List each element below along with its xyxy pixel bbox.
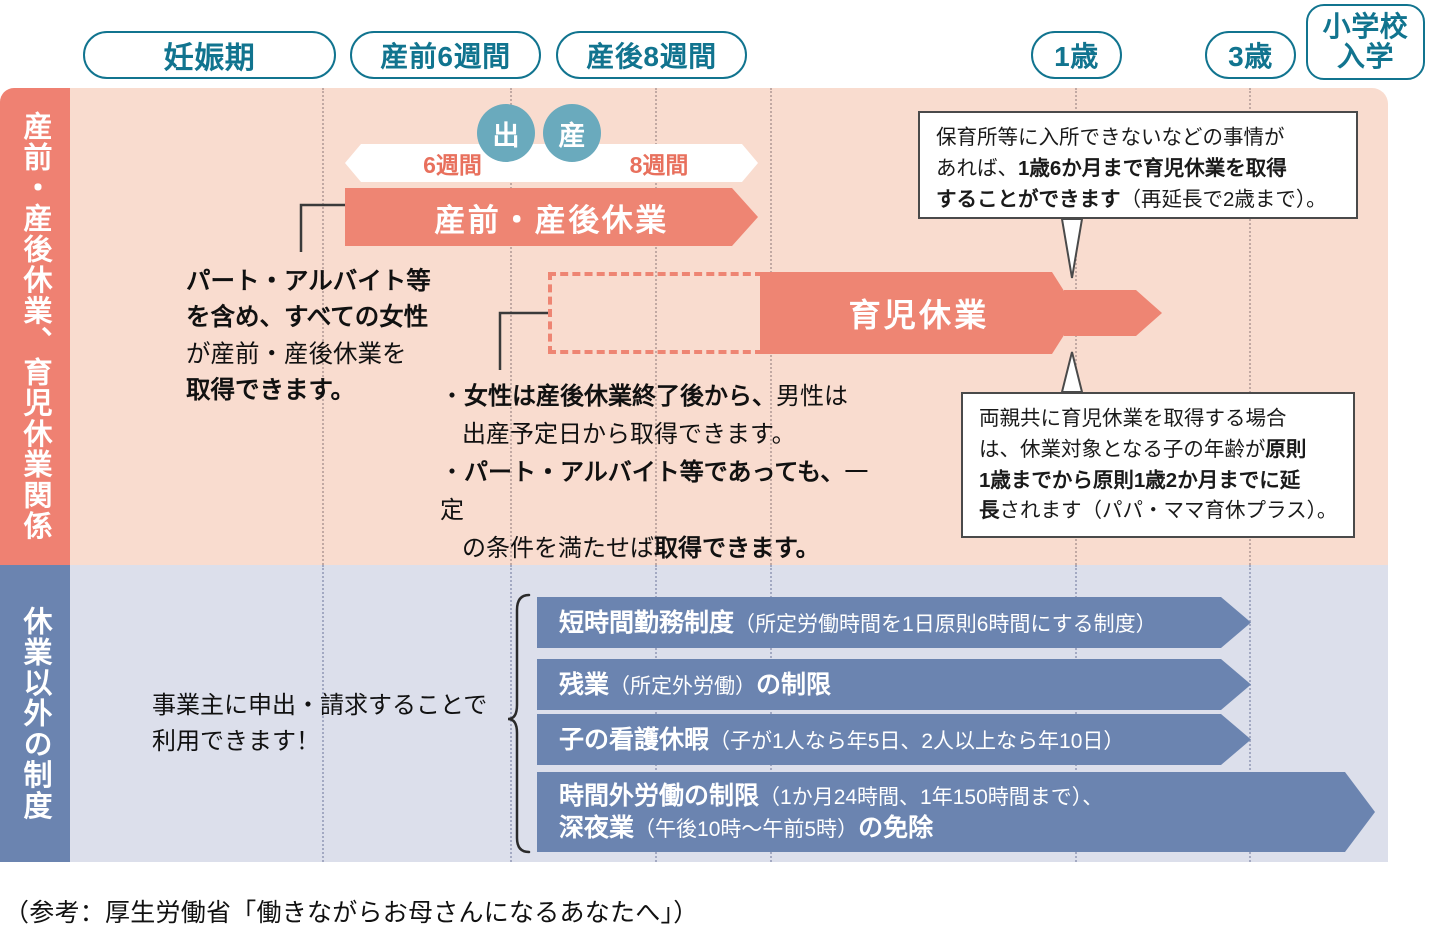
text-bold: することができます [936, 188, 1121, 211]
text-plain: （午後10時～午前5時） [634, 818, 858, 841]
weeks-after-birth-label: 8週間 [630, 146, 689, 180]
measure-bar-overtime-restriction: 残業（所定外労働）の制限 [537, 659, 1251, 710]
text-plain: （子が1人なら年5日、2人以上なら年10日） [709, 730, 1124, 753]
timeline-pill-label: 産後8週間 [586, 35, 716, 75]
measure-text-line2: 深夜業（午後10時～午前5時）の免除 [559, 812, 1103, 844]
text-plain: （所定外労働） [609, 675, 756, 698]
note-part-time-line1: パート・アルバイト等 [186, 264, 446, 300]
callout-both-parents: 両親共に育児休業を取得する場合 は、休業対象となる子の年齢が原則 1歳までから原… [961, 392, 1355, 538]
maternity-leave-label: 産前・産後休業 [434, 195, 668, 240]
note-employer-request-line1: 事業主に申出・請求することで [152, 688, 502, 724]
measure-text-line1: 時間外労働の制限（1か月24時間、1年150時間まで）、 [559, 780, 1103, 812]
timeline-pill-school-entry: 小学校 入学 [1306, 4, 1425, 80]
text-plain: （1か月24時間、1年150時間まで）、 [759, 786, 1103, 809]
text-bold: 1歳6か月まで育児休業を取得 [1018, 157, 1287, 180]
weeks-before-birth-label: 6週間 [423, 146, 482, 180]
bullet-item: ・女性は産後休業終了後から、男性は [440, 378, 870, 416]
timeline-pill-prebirth6w: 産前6週間 [350, 31, 541, 79]
text-bold: パート・アルバイト等であっても、 [464, 459, 844, 486]
callout-extension-line1: 保育所等に入所できないなどの事情が [936, 123, 1342, 154]
sidebar-other-systems-label: 休業以外の制度 [0, 565, 70, 862]
text-bold: 短時間勤務制度 [559, 609, 734, 637]
bullet-item: ・パート・アルバイト等であっても、一定 [440, 454, 870, 530]
text-bold: 女性は産後休業終了後から、 [464, 383, 776, 410]
sidebar-leave-related-label: 産前・産後休業、育児休業関係 [0, 88, 70, 565]
bullet-item-cont: 出産予定日から取得できます。 [440, 416, 870, 454]
timeline-pill-postbirth8w: 産後8週間 [556, 31, 747, 79]
bullet-marker: ・ [440, 383, 464, 410]
text-plain: （所定労働時間を1日原則6時間にする制度） [734, 613, 1157, 636]
text-bold: 時間外労働の制限 [559, 782, 759, 810]
measure-text: 短時間勤務制度（所定労働時間を1日原則6時間にする制度） [537, 607, 1157, 639]
text-plain: されます（パパ・ママ育休プラス）。 [1000, 499, 1338, 522]
text-bold: 残業 [559, 671, 609, 699]
text-bold: の免除 [858, 814, 933, 842]
bullet-marker: ・ [440, 459, 464, 486]
measure-text: 子の看護休暇（子が1人なら年5日、2人以上なら年10日） [537, 724, 1124, 756]
infographic-root: 妊娠期 産前6週間 産後8週間 1歳 3歳 小学校 入学 産前・産後休業、育児休… [0, 0, 1432, 934]
text-bold: 子の看護休暇 [559, 726, 709, 754]
childcare-leave-bar-label-holder: 育児休業 [760, 272, 1078, 354]
bullet-item-cont: の条件を満たせば取得できます。 [440, 530, 870, 568]
sidebar-label-text: 産前・産後休業、育児休業関係 [14, 111, 56, 541]
timeline-pill-label: 1歳 [1054, 35, 1099, 75]
callout-extension-line2: あれば、1歳6か月まで育児休業を取得 [936, 154, 1342, 185]
timeline-pill-age3: 3歳 [1205, 31, 1296, 79]
birth-badge-second-char: 産 [543, 104, 601, 162]
text-plain: 男性は [776, 383, 848, 410]
callout-extension-line3: することができます（再延長で2歳まで）。 [936, 185, 1342, 216]
text-bold: 1歳までから原則1歳2か月までに延 [979, 469, 1300, 492]
timeline-pill-age1: 1歳 [1031, 31, 1122, 79]
text-bold: 原則 [1265, 438, 1306, 461]
note-employer-request-line2: 利用できます！ [152, 724, 502, 760]
birth-badge-text: 出 [493, 114, 520, 153]
callout-both-parents-line1: 両親共に育児休業を取得する場合 [979, 404, 1339, 435]
callout-both-parents-line4: 長されます（パパ・ママ育休プラス）。 [979, 496, 1339, 527]
note-part-time-line3: が産前・産後休業を [186, 337, 446, 373]
timeline-pill-label: 産前6週間 [380, 35, 510, 75]
timeline-pill-label: 妊娠期 [164, 33, 256, 77]
gridline-prebirth-lower [510, 565, 512, 862]
timeline-pill-label: 3歳 [1228, 35, 1273, 75]
measure-text: 時間外労働の制限（1か月24時間、1年150時間まで）、 深夜業（午後10時～午… [537, 780, 1103, 844]
timeline-pill-pregnancy: 妊娠期 [83, 31, 336, 79]
text-bold: 取得できます。 [654, 535, 820, 562]
text-plain: は、休業対象となる子の年齢が [979, 438, 1265, 461]
maternity-leave-bar: 産前・産後休業 [345, 188, 758, 246]
text-plain: 出産予定日から取得できます。 [462, 421, 796, 448]
birth-badge-text: 産 [559, 114, 586, 153]
note-eligibility-bullets: ・女性は産後休業終了後から、男性は 出産予定日から取得できます。 ・パート・アル… [440, 378, 870, 568]
measure-bar-short-hours: 短時間勤務制度（所定労働時間を1日原則6時間にする制度） [537, 597, 1251, 648]
measure-bar-overtime-and-night-work: 時間外労働の制限（1か月24時間、1年150時間まで）、 深夜業（午後10時～午… [537, 772, 1375, 852]
sidebar-label-text: 休業以外の制度 [14, 606, 56, 821]
source-footnote: （参考：厚生労働省「働きながらお母さんになるあなたへ」） [4, 893, 699, 929]
callout-both-parents-line2: は、休業対象となる子の年齢が原則 [979, 435, 1339, 466]
text-plain: （再延長で2歳まで）。 [1121, 188, 1327, 211]
text-bold: 長 [979, 499, 1000, 522]
timeline-pill-label-line1: 小学校 [1323, 12, 1409, 42]
note-part-time-line2: を含め、すべての女性 [186, 300, 446, 336]
note-part-time: パート・アルバイト等 を含め、すべての女性 が産前・産後休業を 取得できます。 [186, 264, 446, 409]
note-employer-request: 事業主に申出・請求することで 利用できます！ [152, 688, 502, 761]
text-plain: あれば、 [936, 157, 1018, 180]
callout-both-parents-line3: 1歳までから原則1歳2か月までに延 [979, 466, 1339, 497]
text-bold: 深夜業 [559, 814, 634, 842]
childcare-leave-label: 育児休業 [849, 290, 990, 336]
text-plain: の条件を満たせば [462, 535, 654, 562]
childcare-leave-dashed-region [548, 272, 763, 354]
measure-bar-child-nursing-leave: 子の看護休暇（子が1人なら年5日、2人以上なら年10日） [537, 714, 1251, 765]
text-bold: の制限 [756, 671, 831, 699]
callout-extension: 保育所等に入所できないなどの事情が あれば、1歳6か月まで育児休業を取得 するこ… [918, 111, 1358, 219]
measure-text: 残業（所定外労働）の制限 [537, 669, 831, 701]
timeline-pill-label-line2: 入学 [1337, 42, 1394, 72]
note-part-time-line4: 取得できます。 [186, 373, 446, 409]
birth-badge-first-char: 出 [477, 104, 535, 162]
